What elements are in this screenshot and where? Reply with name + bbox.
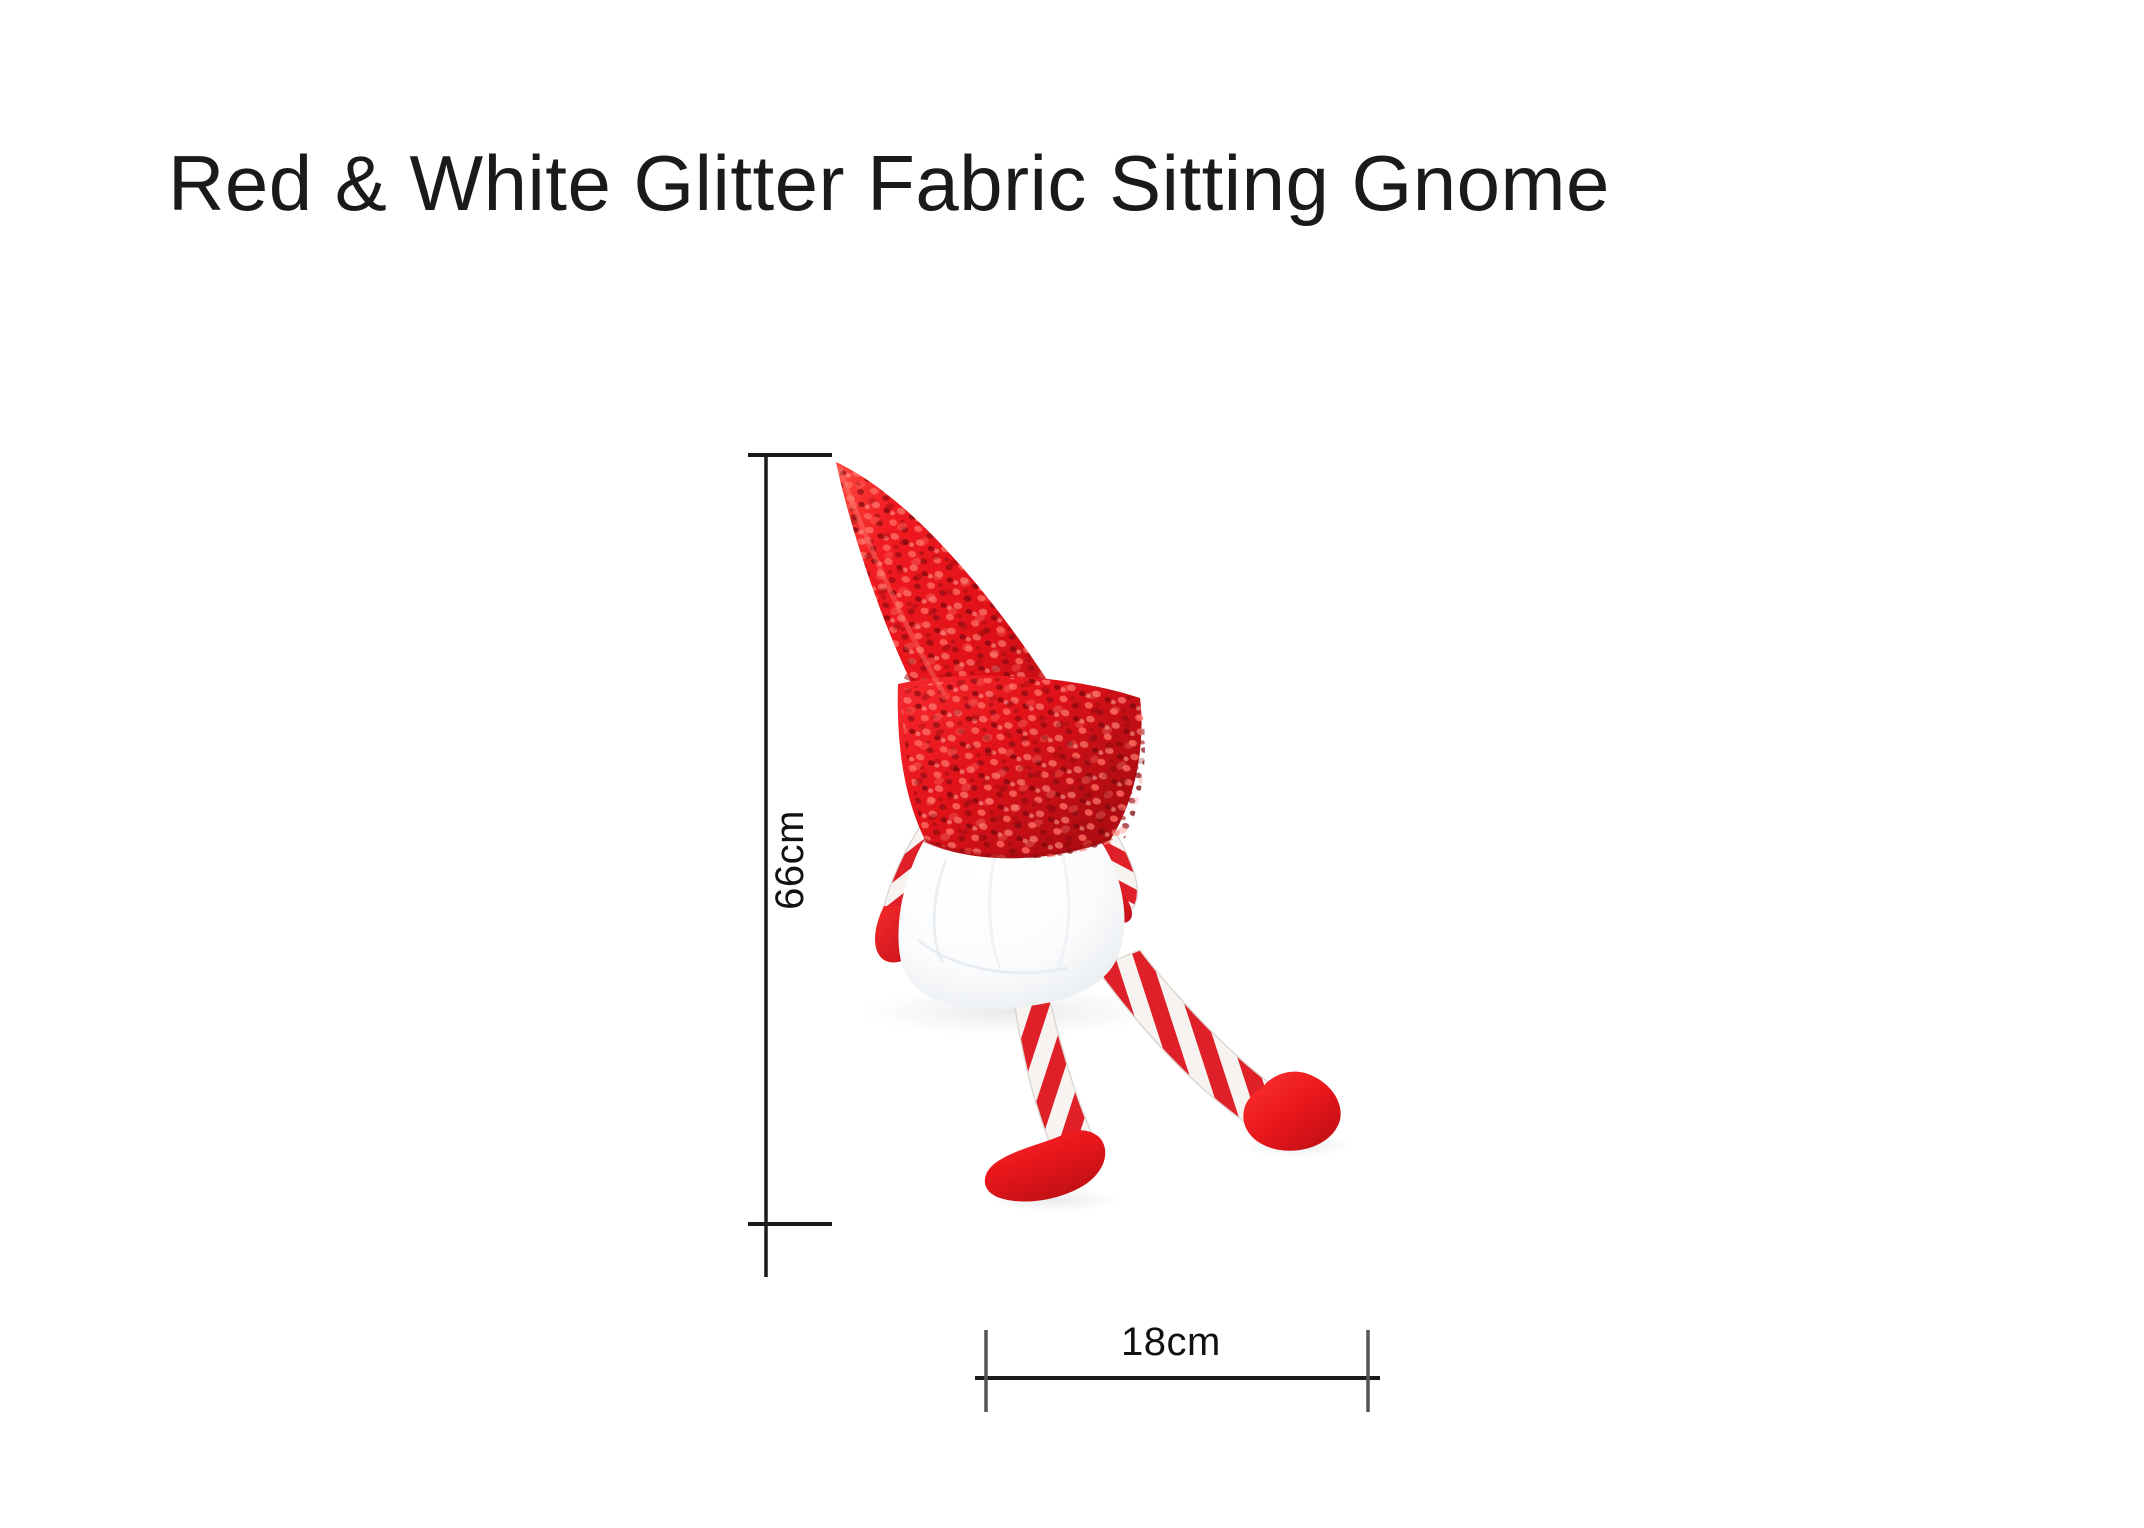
height-dimension-label: 66cm (768, 810, 813, 910)
sequin-hat (820, 450, 1180, 880)
right-leg (1096, 950, 1341, 1151)
product-spec-diagram: 66cm 18cm (0, 0, 2144, 1528)
product-illustration-gnome (820, 450, 1341, 1202)
width-dimension-label: 18cm (1121, 1320, 1221, 1365)
spec-canvas (0, 0, 2144, 1528)
